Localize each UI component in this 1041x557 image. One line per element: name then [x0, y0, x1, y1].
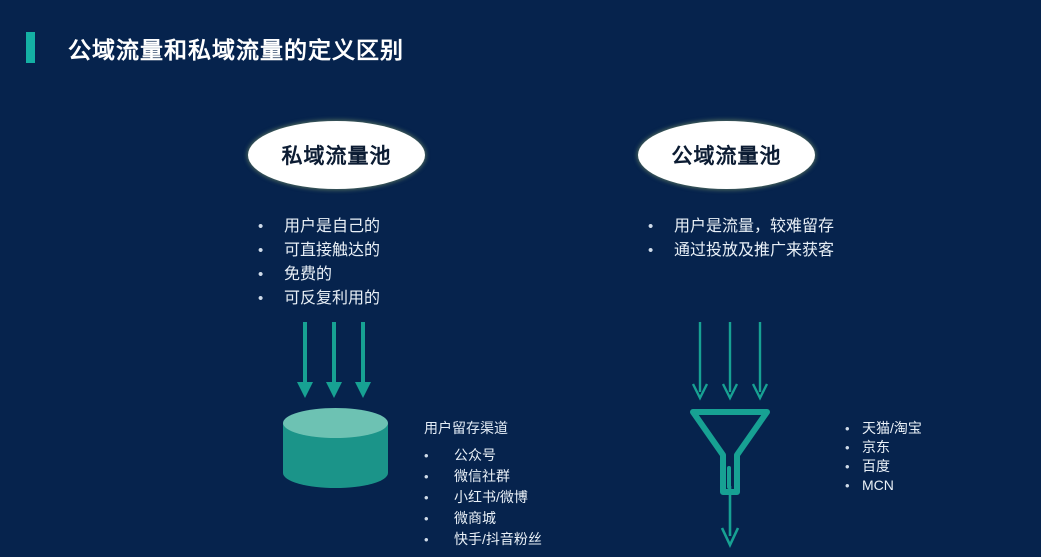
- bullet-dot-icon: •: [258, 243, 284, 258]
- list-item: • 百度: [845, 459, 922, 473]
- bullet-dot-icon: •: [845, 441, 862, 454]
- list-item: • 公众号: [424, 448, 542, 462]
- slide-canvas: 公域流量和私域流量的定义区别: [0, 0, 1041, 557]
- list-item: • 可反复利用的: [258, 291, 380, 307]
- list-item: • 免费的: [258, 267, 380, 283]
- list-item: • 天猫/淘宝: [845, 421, 922, 435]
- list-item: • 快手/抖音粉丝: [424, 532, 542, 546]
- down-arrow-icon: [722, 486, 738, 545]
- list-item: • MCN: [845, 478, 922, 492]
- three-down-arrows-solid-icon: [297, 322, 371, 398]
- list-item: • 用户是自己的: [258, 219, 380, 235]
- list-item: • 通过投放及推广来获客: [648, 243, 834, 259]
- list-item: • 微商城: [424, 511, 542, 525]
- public-features-list: • 用户是流量，较难留存 • 通过投放及推广来获客: [648, 219, 834, 267]
- bullet-dot-icon: •: [845, 479, 862, 492]
- bullet-dot-icon: •: [648, 243, 674, 258]
- list-item: • 微信社群: [424, 469, 542, 483]
- retention-channels-title: 用户留存渠道: [424, 418, 542, 438]
- retention-channels-block: 用户留存渠道 • 公众号 • 微信社群 • 小红书/微博 • 微商城 • 快手/…: [424, 418, 542, 553]
- public-pool-heading: 公域流量池: [638, 121, 815, 189]
- bullet-dot-icon: •: [424, 491, 454, 504]
- bullet-dot-icon: •: [258, 219, 284, 234]
- list-item: • 小红书/微博: [424, 490, 542, 504]
- bullet-dot-icon: •: [424, 512, 454, 525]
- bullet-dot-icon: •: [424, 470, 454, 483]
- list-item: • 用户是流量，较难留存: [648, 219, 834, 235]
- cylinder-database-icon: [283, 408, 388, 488]
- bullet-dot-icon: •: [845, 460, 862, 473]
- page-title: 公域流量和私域流量的定义区别: [68, 31, 404, 65]
- title-accent-bar: [26, 32, 35, 63]
- public-pool-label: 公域流量池: [672, 140, 782, 170]
- private-pool-label: 私域流量池: [282, 140, 392, 170]
- bullet-dot-icon: •: [258, 267, 284, 282]
- bullet-dot-icon: •: [648, 219, 674, 234]
- list-item: • 可直接触达的: [258, 243, 380, 259]
- private-features-list: • 用户是自己的 • 可直接触达的 • 免费的 • 可反复利用的: [258, 219, 380, 315]
- bullet-dot-icon: •: [424, 449, 454, 462]
- public-channels-list: • 天猫/淘宝 • 京东 • 百度 • MCN: [845, 421, 922, 497]
- bullet-dot-icon: •: [424, 533, 454, 546]
- bullet-dot-icon: •: [258, 291, 284, 306]
- three-down-arrows-outline-icon: [693, 322, 767, 398]
- list-item: • 京东: [845, 440, 922, 454]
- private-pool-heading: 私域流量池: [248, 121, 425, 189]
- bullet-dot-icon: •: [845, 422, 862, 435]
- funnel-outline-icon: [693, 412, 767, 492]
